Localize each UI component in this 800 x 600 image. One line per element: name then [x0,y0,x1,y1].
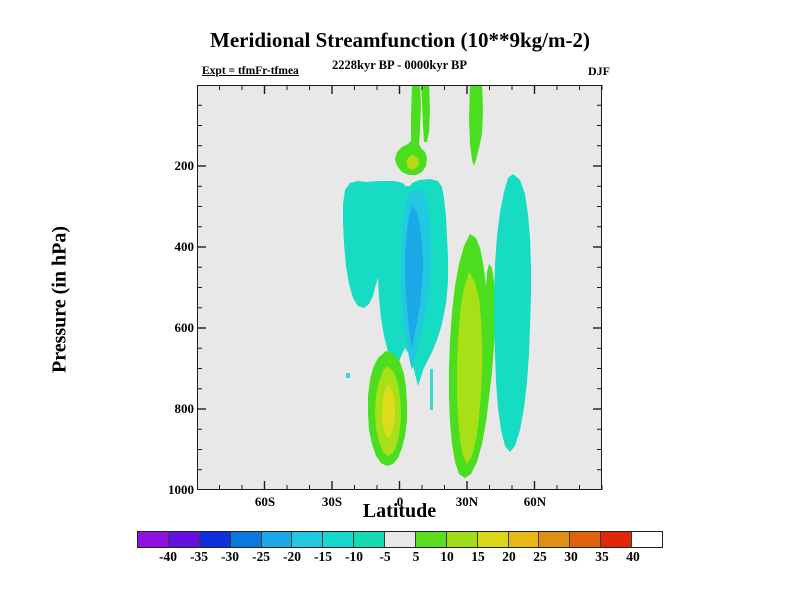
colorbar-band [447,532,478,547]
ytick-label-600: 600 [74,320,194,336]
subtitle-row: Expt = tfmFr-tfmea 2228kyr BP - 0000kyr … [197,62,602,80]
ytick-label-800: 800 [74,401,194,417]
colorbar-band [262,532,293,547]
colorbar-band [601,532,632,547]
colorbar-band [539,532,570,547]
colorbar [137,531,663,548]
ytick-label-1000: 1000 [74,482,194,498]
colorbar-band [632,532,662,547]
ytick-label-400: 400 [74,239,194,255]
page-title: Meridional Streamfunction (10**9kg/m-2) [0,28,800,53]
colorbar-band [385,532,416,547]
colorbar-band [323,532,354,547]
xtick-label-60S: 60S [235,494,295,510]
y-axis-label: Pressure (in hPa) [49,170,72,430]
xtick-label-30N: 30N [437,494,497,510]
axis-ticks [197,85,603,491]
figure-canvas: Meridional Streamfunction (10**9kg/m-2) … [0,0,800,600]
time-period-label: 2228kyr BP - 0000kyr BP [197,58,602,73]
colorbar-band [200,532,231,547]
colorbar-band [169,532,200,547]
colorbar-tick-p40: 40 [611,549,655,565]
colorbar-band [292,532,323,547]
colorbar-band [354,532,385,547]
colorbar-band [478,532,509,547]
xtick-label-0: 0 [370,494,430,510]
xtick-label-30S: 30S [302,494,362,510]
season-label: DJF [588,64,610,79]
colorbar-band [231,532,262,547]
colorbar-band [416,532,447,547]
colorbar-band [138,532,169,547]
colorbar-band [570,532,601,547]
xtick-label-60N: 60N [505,494,565,510]
colorbar-band [509,532,540,547]
ytick-label-200: 200 [74,158,194,174]
colorbar-tick-labels: -40 -35 -30 -25 -20 -15 -10 -5 5 10 15 2… [137,549,663,567]
